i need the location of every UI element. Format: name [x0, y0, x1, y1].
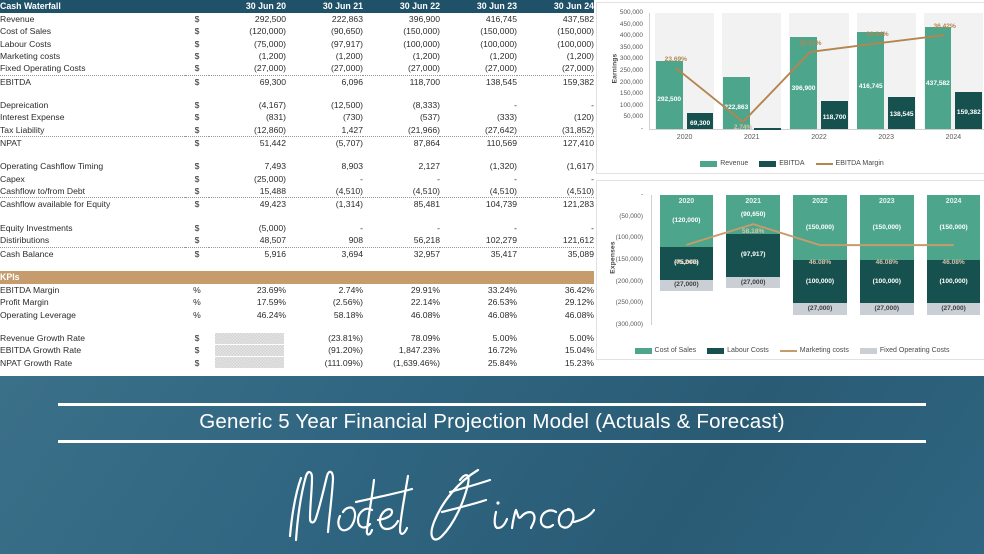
legend-item-ebitda[interactable]: EBITDA: [759, 160, 804, 167]
table-cell: (23.81%): [286, 332, 363, 344]
table-cell: (12,500): [286, 99, 363, 111]
row-label: Tax Liability: [0, 124, 185, 137]
table-cell: -: [286, 222, 363, 234]
table-cell: -: [517, 222, 594, 234]
table-cell: -: [286, 173, 363, 185]
column-header-4: 30 Jun 24: [517, 0, 594, 13]
row-unit: %: [185, 296, 209, 308]
table-cell: 416,745: [440, 13, 517, 25]
table-row: Cash Balance$5,9163,69432,95735,41735,08…: [0, 247, 594, 260]
table-row: EBITDA$69,3006,096118,700138,545159,382: [0, 75, 594, 88]
table-cell: 22.14%: [363, 296, 440, 308]
column-header-2: 30 Jun 22: [363, 0, 440, 13]
row-label: Distiributions: [0, 234, 185, 247]
row-unit: $: [185, 344, 209, 356]
legend-label: Marketing costs: [800, 347, 849, 354]
row-label: Capex: [0, 173, 185, 185]
section-header-cell: [440, 271, 517, 284]
table-cell: 69,300: [209, 75, 286, 88]
row-label: Profit Margin: [0, 296, 185, 308]
table-cell: (31,852): [517, 124, 594, 137]
table-cell: (100,000): [440, 38, 517, 50]
row-unit: $: [185, 38, 209, 50]
row-label: EBITDA Margin: [0, 284, 185, 296]
table-row: Equity Investments$(5,000)----: [0, 222, 594, 234]
table-row: Operating Leverage%46.24%58.18%46.08%46.…: [0, 309, 594, 321]
row-unit: $: [185, 137, 209, 150]
table-spacer-row: [0, 260, 594, 271]
margin-label-2022: 29.91%: [786, 40, 834, 47]
table-cell: 46.08%: [363, 309, 440, 321]
table-row: Cashflow available for Equity$49,423(1,3…: [0, 198, 594, 211]
row-unit: %: [185, 284, 209, 296]
table-row: Depreication$(4,167)(12,500)(8,333)--: [0, 99, 594, 111]
table-cell: 29.91%: [363, 284, 440, 296]
table-cell: (2.56%): [286, 296, 363, 308]
table-cell: 5,916: [209, 247, 286, 260]
table-cell: (1,314): [286, 198, 363, 211]
table-cell: 15.23%: [517, 357, 594, 369]
table-cell: 8,903: [286, 160, 363, 172]
legend-swatch: [816, 163, 833, 165]
table-row: Capex$(25,000)----: [0, 173, 594, 185]
legend-item-revenue[interactable]: Revenue: [700, 160, 748, 167]
legend-swatch: [635, 348, 652, 354]
row-label: Revenue Growth Rate: [0, 332, 185, 344]
table-cell: (1,200): [286, 50, 363, 62]
table-row: Revenue$292,500222,863396,900416,745437,…: [0, 13, 594, 25]
row-unit: $: [185, 99, 209, 111]
table-cell: 138,545: [440, 75, 517, 88]
table-cell: 222,863: [286, 13, 363, 25]
table-cell: 110,569: [440, 137, 517, 150]
table-cell: (1,320): [440, 160, 517, 172]
table-cell: (5,000): [209, 222, 286, 234]
row-label: Interest Expense: [0, 111, 185, 123]
table-row: EBITDA Margin%23.69%2.74%29.91%33.24%36.…: [0, 284, 594, 296]
table-cell: (100,000): [517, 38, 594, 50]
table-body: Cash Waterfall30 Jun 2030 Jun 2130 Jun 2…: [0, 0, 594, 369]
table-row: Labour Costs$(75,000)(97,917)(100,000)(1…: [0, 38, 594, 50]
row-unit: $: [185, 234, 209, 247]
banner-rule-top: [58, 403, 926, 406]
table-cell: 437,582: [517, 13, 594, 25]
table-cell: -: [517, 173, 594, 185]
table-cell: (1,200): [517, 50, 594, 62]
row-label: Labour Costs: [0, 38, 185, 50]
table-cell: 17.59%: [209, 296, 286, 308]
row-unit: $: [185, 357, 209, 369]
table-cell: 85,481: [363, 198, 440, 211]
table-cell: -: [440, 173, 517, 185]
table-cell: (120,000): [209, 25, 286, 37]
table-cell: 33.24%: [440, 284, 517, 296]
expenses-chart[interactable]: Expenses-(50,000)(100,000)(150,000)(200,…: [596, 180, 984, 360]
table-cell: 46.08%: [517, 309, 594, 321]
table-cell: 48,507: [209, 234, 286, 247]
table-row: Fixed Operating Costs$(27,000)(27,000)(2…: [0, 62, 594, 75]
legend-swatch: [700, 161, 717, 167]
table-cell: 396,900: [363, 13, 440, 25]
table-cell: (111.09%): [286, 357, 363, 369]
legend-swatch: [860, 348, 877, 354]
table-cell: [209, 357, 286, 369]
section-header-cell: [209, 271, 286, 284]
table-cell: (4,510): [286, 185, 363, 198]
legend-swatch: [707, 348, 724, 354]
table-cell: (97,917): [286, 38, 363, 50]
legend-label: EBITDA Margin: [836, 160, 884, 167]
row-label: EBITDA Growth Rate: [0, 344, 185, 356]
table-spacer-row: [0, 321, 594, 332]
table-cell: (1,200): [440, 50, 517, 62]
row-label: Cashflow available for Equity: [0, 198, 185, 211]
table-cell: 104,739: [440, 198, 517, 211]
legend-swatch: [780, 350, 797, 352]
table-cell: (150,000): [440, 25, 517, 37]
table-cell: (21,966): [363, 124, 440, 137]
table-row: Interest Expense$(831)(730)(537)(333)(12…: [0, 111, 594, 123]
table-spacer-row: [0, 211, 594, 222]
table-cell: (91.20%): [286, 344, 363, 356]
legend-item-ebitda-margin[interactable]: EBITDA Margin: [816, 160, 884, 167]
table-cell: 49,423: [209, 198, 286, 211]
table-cell: (27,000): [209, 62, 286, 75]
legend-label: Cost of Sales: [655, 347, 697, 354]
title-banner: Generic 5 Year Financial Projection Mode…: [0, 376, 984, 554]
table-cell: (730): [286, 111, 363, 123]
blank-hatched-cell: [215, 333, 284, 344]
row-unit: $: [185, 50, 209, 62]
row-label: Revenue: [0, 13, 185, 25]
table-row: Revenue Growth Rate$(23.81%)78.09%5.00%5…: [0, 332, 594, 344]
table-cell: (12,860): [209, 124, 286, 137]
legend-label: Fixed Operating Costs: [880, 347, 950, 354]
table-cell: 3,694: [286, 247, 363, 260]
table-cell: 23.69%: [209, 284, 286, 296]
blank-hatched-cell: [215, 357, 284, 368]
section-header-cell: [286, 271, 363, 284]
leverage-label-2020: 46.24%: [662, 259, 710, 266]
table-cell: 2.74%: [286, 284, 363, 296]
leverage-label-2024: 46.08%: [930, 259, 978, 266]
margin-label-2020: 23.69%: [652, 56, 700, 63]
table-cell: -: [440, 222, 517, 234]
row-unit: $: [185, 124, 209, 137]
table-cell: (100,000): [363, 38, 440, 50]
table-cell: 35,089: [517, 247, 594, 260]
table-row: Cost of Sales$(120,000)(90,650)(150,000)…: [0, 25, 594, 37]
legend-label: Labour Costs: [727, 347, 769, 354]
row-label: NPAT Growth Rate: [0, 357, 185, 369]
table-cell: 908: [286, 234, 363, 247]
earnings-plot-area: Earnings-50,000100,000150,000200,000250,…: [597, 3, 984, 173]
row-unit: $: [185, 173, 209, 185]
table-cell: (1,639.46%): [363, 357, 440, 369]
table-cell: [209, 332, 286, 344]
table-cell: 29.12%: [517, 296, 594, 308]
table-cell: 32,957: [363, 247, 440, 260]
table-cell: 127,410: [517, 137, 594, 150]
table-cell: 56,218: [363, 234, 440, 247]
row-unit: $: [185, 25, 209, 37]
table-cell: 159,382: [517, 75, 594, 88]
column-header-1: 30 Jun 21: [286, 0, 363, 13]
table-cell: (4,167): [209, 99, 286, 111]
margin-label-2024: 36.42%: [921, 23, 969, 30]
section-header-unit: [185, 271, 209, 284]
table-cell: (120): [517, 111, 594, 123]
table-cell: 121,283: [517, 198, 594, 211]
banner-rule-bottom: [58, 440, 926, 443]
table-cell: (27,642): [440, 124, 517, 137]
section-header-label: Cash Waterfall: [0, 0, 185, 13]
table-cell: 2,127: [363, 160, 440, 172]
expenses-plot-area: Expenses-(50,000)(100,000)(150,000)(200,…: [597, 181, 984, 359]
table-cell: (4,510): [440, 185, 517, 198]
table-row: Marketing costs$(1,200)(1,200)(1,200)(1,…: [0, 50, 594, 62]
table-cell: (27,000): [517, 62, 594, 75]
earnings-legend[interactable]: RevenueEBITDAEBITDA Margin: [597, 160, 984, 167]
table-cell: -: [440, 99, 517, 111]
row-label: Equity Investments: [0, 222, 185, 234]
legend-item-labour-costs[interactable]: Labour Costs: [707, 347, 769, 354]
table-row: Operating Cashflow Timing$7,4938,9032,12…: [0, 160, 594, 172]
row-unit: $: [185, 13, 209, 25]
section-header-cell: [363, 271, 440, 284]
table-cell: 118,700: [363, 75, 440, 88]
section-header-unit: [185, 0, 209, 13]
table-cell: -: [363, 173, 440, 185]
row-label: Operating Cashflow Timing: [0, 160, 185, 172]
legend-item-marketing-costs[interactable]: Marketing costs: [780, 347, 849, 354]
row-unit: $: [185, 160, 209, 172]
table-cell: (90,650): [286, 25, 363, 37]
table-row: NPAT Growth Rate$(111.09%)(1,639.46%)25.…: [0, 357, 594, 369]
expenses-legend[interactable]: Cost of SalesLabour CostsMarketing costs…: [597, 347, 984, 354]
section-header-kpis: KPIs: [0, 271, 594, 284]
row-label: Marketing costs: [0, 50, 185, 62]
leverage-label-2022: 46.08%: [796, 259, 844, 266]
table-cell: (8,333): [363, 99, 440, 111]
table-row: Distiributions$48,50790856,218102,279121…: [0, 234, 594, 247]
table-cell: 6,096: [286, 75, 363, 88]
table-cell: 46.24%: [209, 309, 286, 321]
earnings-chart[interactable]: Earnings-50,000100,000150,000200,000250,…: [596, 2, 984, 174]
blank-hatched-cell: [215, 345, 284, 356]
modelfinco-script-logo: [282, 462, 702, 546]
table-spacer-row: [0, 149, 594, 160]
table-cell: (5,707): [286, 137, 363, 150]
financial-table-pane: Cash Waterfall30 Jun 2030 Jun 2130 Jun 2…: [0, 0, 594, 376]
table-cell: 16.72%: [440, 344, 517, 356]
section-header-cash-waterfall: Cash Waterfall30 Jun 2030 Jun 2130 Jun 2…: [0, 0, 594, 13]
table-cell: 121,612: [517, 234, 594, 247]
table-cell: 51,442: [209, 137, 286, 150]
row-unit: $: [185, 222, 209, 234]
table-cell: 58.18%: [286, 309, 363, 321]
margin-label-2023: 33.24%: [853, 31, 901, 38]
legend-item-fixed-operating-costs[interactable]: Fixed Operating Costs: [860, 347, 950, 354]
table-cell: (27,000): [286, 62, 363, 75]
leverage-label-2023: 46.08%: [863, 259, 911, 266]
table-cell: (25,000): [209, 173, 286, 185]
section-header-cell: [517, 271, 594, 284]
table-cell: 26.53%: [440, 296, 517, 308]
table-cell: (831): [209, 111, 286, 123]
table-cell: 78.09%: [363, 332, 440, 344]
table-cell: (27,000): [440, 62, 517, 75]
section-header-label: KPIs: [0, 271, 185, 284]
row-label: EBITDA: [0, 75, 185, 88]
table-cell: (1,617): [517, 160, 594, 172]
leverage-label-2021: 58.18%: [729, 228, 777, 235]
legend-item-cost-of-sales[interactable]: Cost of Sales: [635, 347, 697, 354]
table-cell: 46.08%: [440, 309, 517, 321]
table-row: Profit Margin%17.59%(2.56%)22.14%26.53%2…: [0, 296, 594, 308]
table-cell: 1,427: [286, 124, 363, 137]
table-cell: 292,500: [209, 13, 286, 25]
row-unit: $: [185, 185, 209, 198]
table-cell: (150,000): [517, 25, 594, 37]
column-header-3: 30 Jun 23: [440, 0, 517, 13]
table-cell: 7,493: [209, 160, 286, 172]
legend-label: Revenue: [720, 160, 748, 167]
row-label: Cost of Sales: [0, 25, 185, 37]
table-cell: 1,847.23%: [363, 344, 440, 356]
page-title: Generic 5 Year Financial Projection Mode…: [0, 410, 984, 434]
row-unit: $: [185, 332, 209, 344]
table-cell: (150,000): [363, 25, 440, 37]
table-cell: 87,864: [363, 137, 440, 150]
table-cell: 36.42%: [517, 284, 594, 296]
table-cell: (4,510): [517, 185, 594, 198]
table-cell: (4,510): [363, 185, 440, 198]
table-cell: -: [517, 99, 594, 111]
row-unit: $: [185, 62, 209, 75]
row-label: NPAT: [0, 137, 185, 150]
table-cell: 5.00%: [517, 332, 594, 344]
marketing-costs-line: [597, 181, 984, 360]
table-spacer-row: [0, 88, 594, 99]
table-cell: (1,200): [363, 50, 440, 62]
table-cell: (537): [363, 111, 440, 123]
table-row: NPAT$51,442(5,707)87,864110,569127,410: [0, 137, 594, 150]
table-cell: 15,488: [209, 185, 286, 198]
row-unit: $: [185, 75, 209, 88]
table-cell: 102,279: [440, 234, 517, 247]
table-cell: (27,000): [363, 62, 440, 75]
table-cell: (333): [440, 111, 517, 123]
margin-label-2021: 2.74%: [719, 124, 767, 131]
table-cell: [209, 344, 286, 356]
table-cell: 35,417: [440, 247, 517, 260]
row-unit: $: [185, 247, 209, 260]
row-label: Depreication: [0, 99, 185, 111]
legend-swatch: [759, 161, 776, 167]
table-cell: 25.84%: [440, 357, 517, 369]
row-label: Cash Balance: [0, 247, 185, 260]
table-cell: (1,200): [209, 50, 286, 62]
table-cell: 5.00%: [440, 332, 517, 344]
legend-label: EBITDA: [779, 160, 804, 167]
row-unit: %: [185, 309, 209, 321]
row-unit: $: [185, 198, 209, 211]
table-cell: -: [363, 222, 440, 234]
row-unit: $: [185, 111, 209, 123]
dashboard-canvas: Cash Waterfall30 Jun 2030 Jun 2130 Jun 2…: [0, 0, 984, 554]
row-label: Operating Leverage: [0, 309, 185, 321]
brand-logo: ModelFinco: [0, 462, 984, 551]
cash-waterfall-table: Cash Waterfall30 Jun 2030 Jun 2130 Jun 2…: [0, 0, 594, 369]
table-cell: (75,000): [209, 38, 286, 50]
row-label: Fixed Operating Costs: [0, 62, 185, 75]
table-row: Cashflow to/from Debt$15,488(4,510)(4,51…: [0, 185, 594, 198]
table-cell: 15.04%: [517, 344, 594, 356]
row-label: Cashflow to/from Debt: [0, 185, 185, 198]
column-header-0: 30 Jun 20: [209, 0, 286, 13]
table-row: EBITDA Growth Rate$(91.20%)1,847.23%16.7…: [0, 344, 594, 356]
table-row: Tax Liability$(12,860)1,427(21,966)(27,6…: [0, 124, 594, 137]
